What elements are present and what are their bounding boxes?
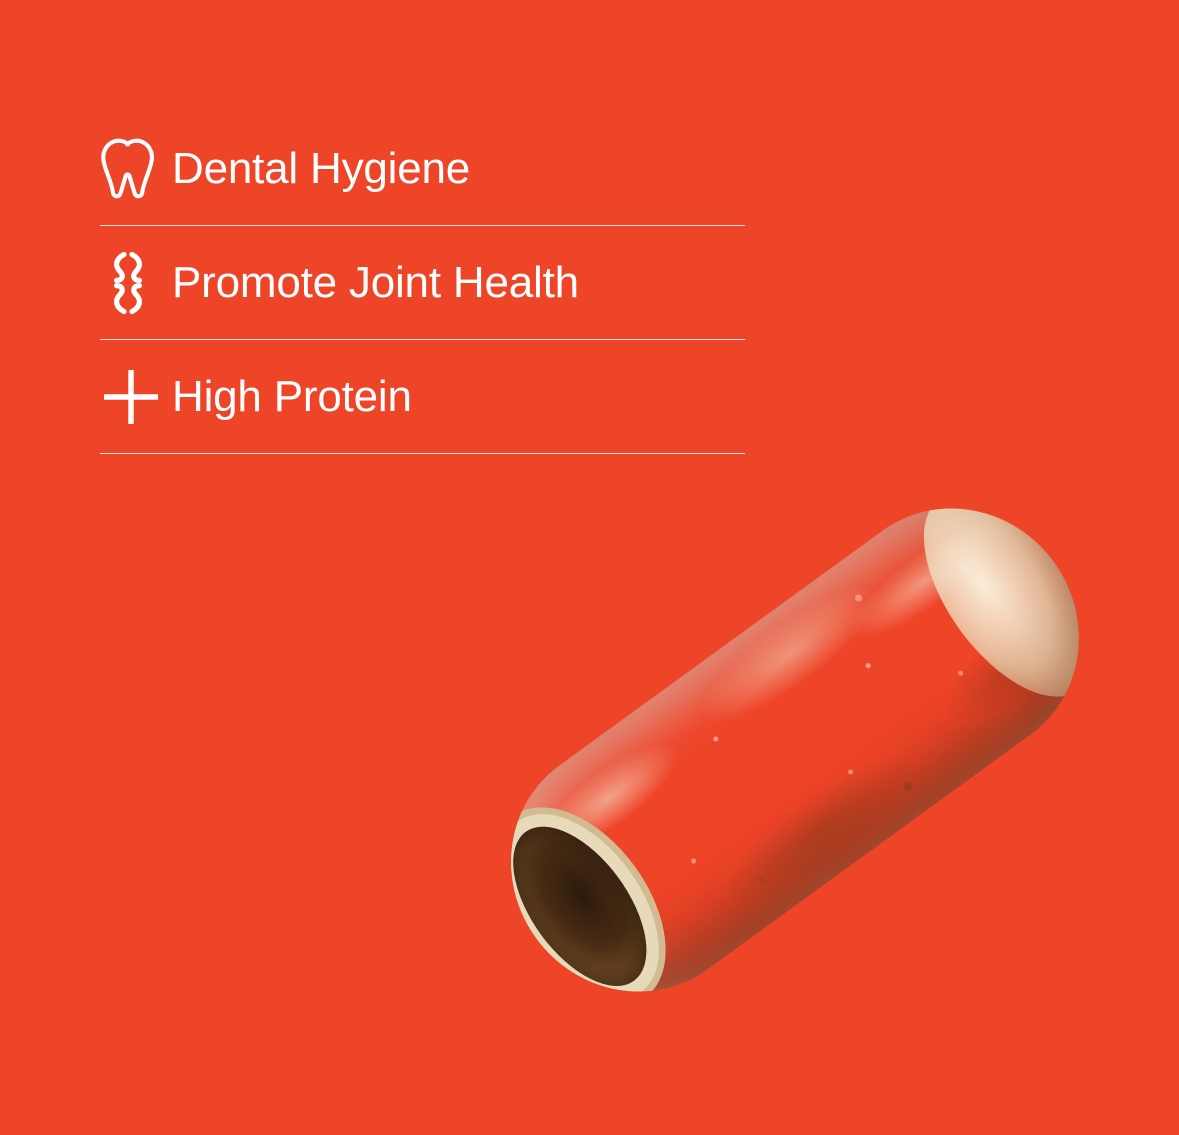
- feature-row-high-protein[interactable]: High Protein: [100, 340, 746, 454]
- chew-closed-end: [891, 464, 1127, 725]
- product-image: [440, 400, 1150, 1100]
- beef-trachea-chew: [462, 460, 1128, 1040]
- tooth-icon: [100, 138, 172, 200]
- product-feature-panel: Dental Hygiene Promote Joint: [0, 0, 1179, 1135]
- plus-icon: [100, 364, 172, 430]
- feature-label: High Protein: [172, 375, 412, 419]
- feature-list: Dental Hygiene Promote Joint: [100, 112, 746, 454]
- feature-label: Promote Joint Health: [172, 261, 579, 305]
- joint-icon: [100, 251, 172, 315]
- chew-hollow-opening: [487, 804, 673, 1009]
- feature-label: Dental Hygiene: [172, 147, 470, 191]
- feature-divider: [100, 453, 745, 454]
- feature-row-dental-hygiene[interactable]: Dental Hygiene: [100, 112, 746, 226]
- feature-row-joint-health[interactable]: Promote Joint Health: [100, 226, 746, 340]
